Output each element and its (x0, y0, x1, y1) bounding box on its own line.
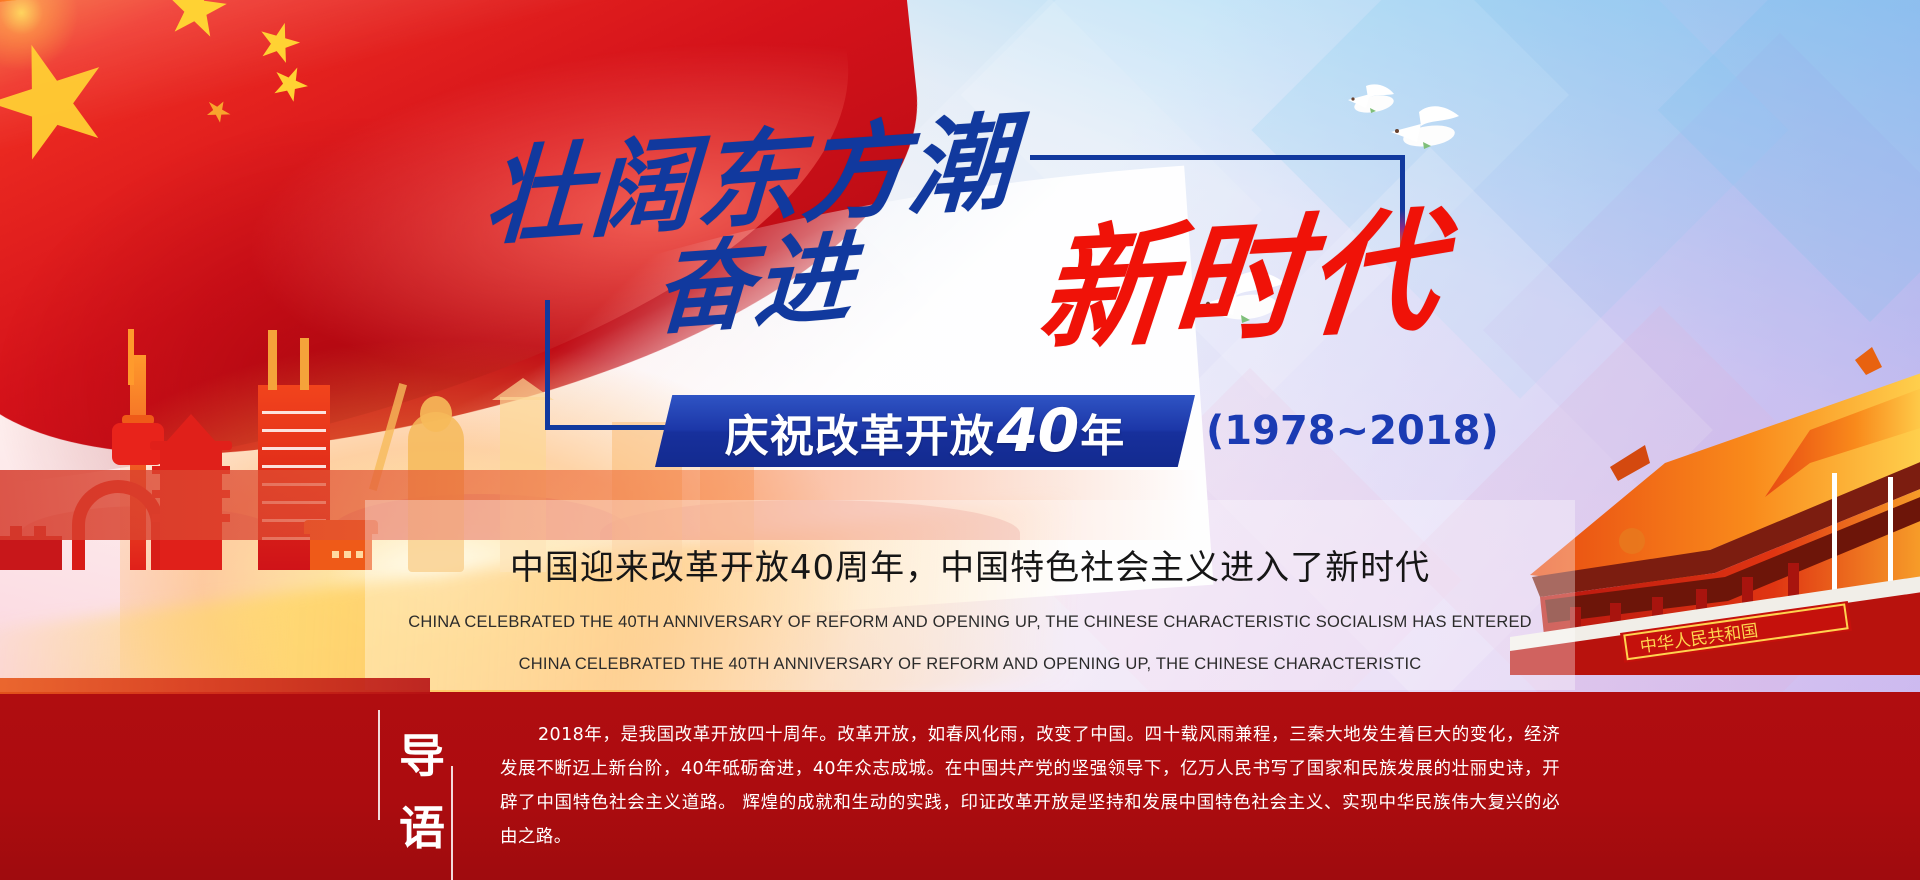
divider-line-right (451, 766, 453, 880)
lede-label-char-1: 导 (394, 720, 450, 792)
ribbon-suffix: 年 (1080, 411, 1125, 462)
year-range: (1978~2018) (1206, 408, 1499, 454)
title-line-2: 奋进 (651, 198, 858, 355)
ribbon-number: 40 (997, 396, 1079, 466)
ribbon-label: 庆祝改革开放40年 (725, 396, 1126, 466)
anniversary-ribbon: 庆祝改革开放40年 (655, 395, 1195, 467)
poster-banner: 中华人民共和国 (0, 0, 1920, 880)
lede-footer: 导 语 2018年，是我国改革开放四十周年。改革开放，如春风化雨，改变了中国。四… (0, 692, 1920, 880)
subtitle-chinese: 中国迎来改革开放40周年，中国特色社会主义进入了新时代 (365, 540, 1575, 589)
ribbon-prefix: 庆祝改革开放 (725, 411, 995, 462)
subtitle-english-line-2: CHINA CELEBRATED THE 40TH ANNIVERSARY OF… (365, 655, 1575, 674)
title-line-3: 新时代 (1032, 164, 1450, 377)
lede-paragraph: 2018年，是我国改革开放四十周年。改革开放，如春风化雨，改变了中国。四十载风雨… (500, 718, 1560, 854)
lede-label-char-2: 语 (394, 792, 450, 864)
subtitle-english-line-1: CHINA CELEBRATED THE 40TH ANNIVERSARY OF… (365, 613, 1575, 632)
title-block: 壮阔东方潮 奋进 新时代 庆祝改革开放40年 (1978~2018) (0, 0, 1920, 520)
lede-label: 导 语 (394, 720, 450, 864)
footer-accent-bar (0, 678, 430, 694)
divider-line-left (378, 710, 380, 820)
